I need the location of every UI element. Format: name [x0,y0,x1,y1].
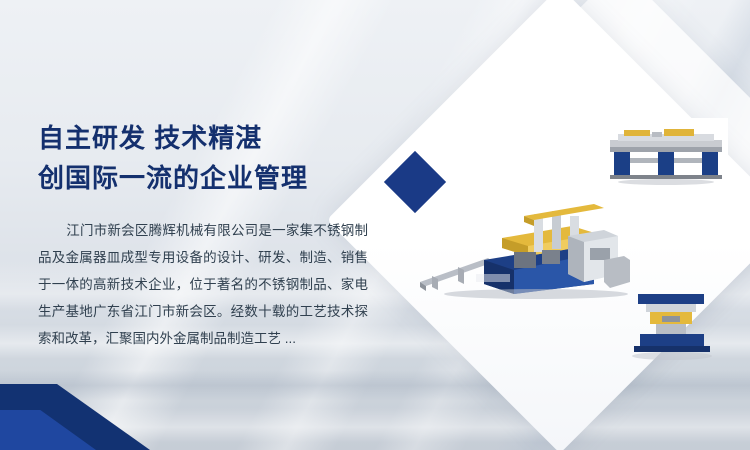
company-description: 江门市新会区腾辉机械有限公司是一家集不锈钢制品及金属器皿成型专用设备的设计、研发… [38,217,368,352]
company-intro-banner: 自主研发 技术精湛 创国际一流的企业管理 江门市新会区腾辉机械有限公司是一家集不… [0,0,750,450]
company-description-text: 江门市新会区腾辉机械有限公司是一家集不锈钢制品及金属器皿成型专用设备的设计、研发… [38,223,368,346]
headline-line-1: 自主研发 技术精湛 [38,118,388,158]
machine-photo-main [418,196,638,300]
headline-line-2: 创国际一流的企业管理 [38,158,388,198]
machine-photo-bottom [620,288,724,362]
intro-text-block: 自主研发 技术精湛 创国际一流的企业管理 江门市新会区腾辉机械有限公司是一家集不… [38,118,388,352]
machine-photo-top [604,118,728,188]
